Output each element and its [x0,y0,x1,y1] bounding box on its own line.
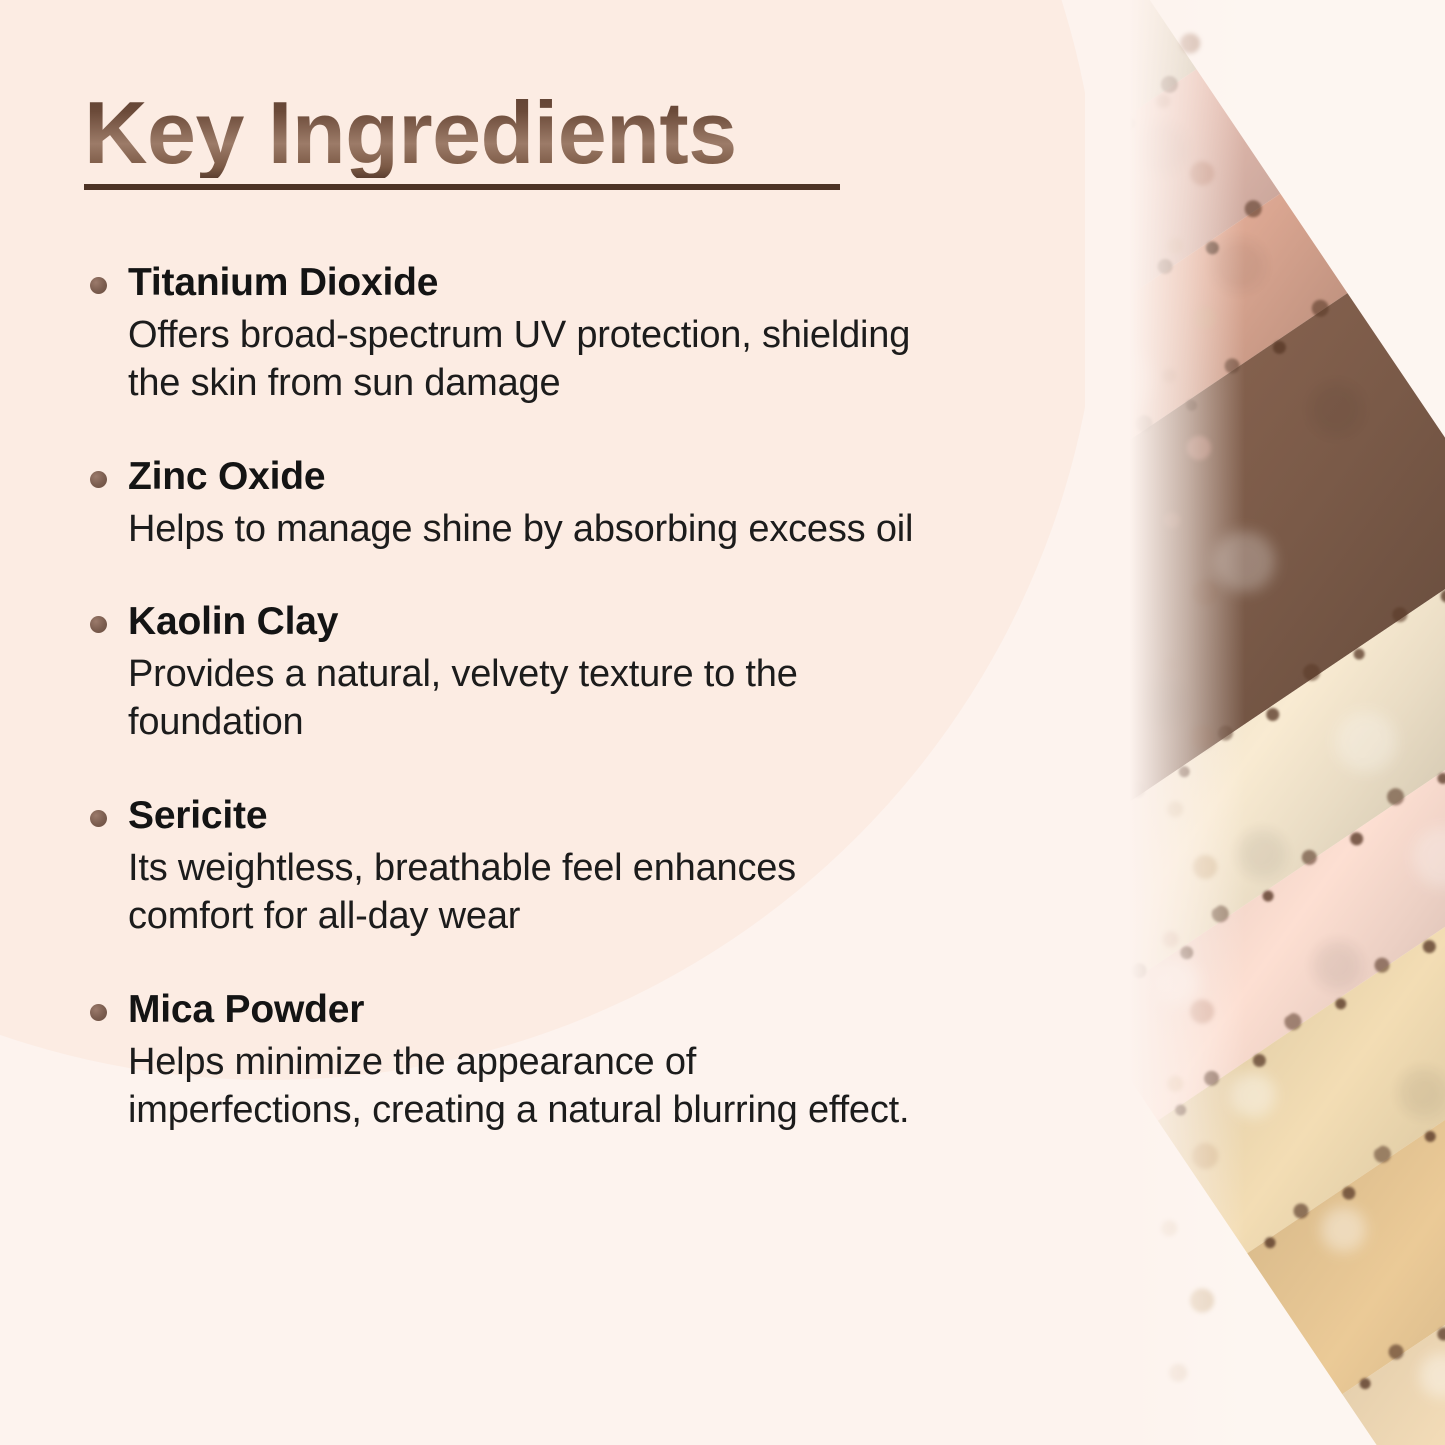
ingredient-name: Mica Powder [128,985,944,1035]
ingredient-item: SericiteIts weightless, breathable feel … [84,791,944,941]
bullet-point-icon [90,810,107,827]
ingredient-item: Titanium DioxideOffers broad-spectrum UV… [84,258,944,408]
ingredient-item: Mica PowderHelps minimize the appearance… [84,985,944,1135]
ingredient-name: Kaolin Clay [128,597,944,647]
bullet-point-icon [90,616,107,633]
ingredient-description: Its weightless, breathable feel enhances… [128,845,928,941]
page-title: Key Ingredients [84,88,864,178]
content-column: Key Ingredients Titanium DioxideOffers b… [0,0,1000,1445]
bullet-point-icon [90,471,107,488]
ingredient-description: Helps to manage shine by absorbing exces… [128,506,928,554]
bullet-point-icon [90,1004,107,1021]
ingredient-list: Titanium DioxideOffers broad-spectrum UV… [84,258,944,1134]
ingredient-description: Provides a natural, velvety texture to t… [128,651,928,747]
ingredient-description: Offers broad-spectrum UV protection, shi… [128,312,928,408]
page-title-block: Key Ingredients [84,88,864,190]
ingredient-name: Sericite [128,791,944,841]
ingredient-item: Kaolin ClayProvides a natural, velvety t… [84,597,944,747]
title-underline-rule [84,184,840,190]
ingredient-item: Zinc OxideHelps to manage shine by absor… [84,452,944,554]
ingredient-name: Titanium Dioxide [128,258,944,308]
bullet-point-icon [90,277,107,294]
ingredient-name: Zinc Oxide [128,452,944,502]
powder-band-stack [1085,0,1445,1445]
infographic-canvas: Key Ingredients Titanium DioxideOffers b… [0,0,1445,1445]
ingredient-description: Helps minimize the appearance of imperfe… [128,1039,928,1135]
powder-swatch-image [1085,0,1445,1445]
